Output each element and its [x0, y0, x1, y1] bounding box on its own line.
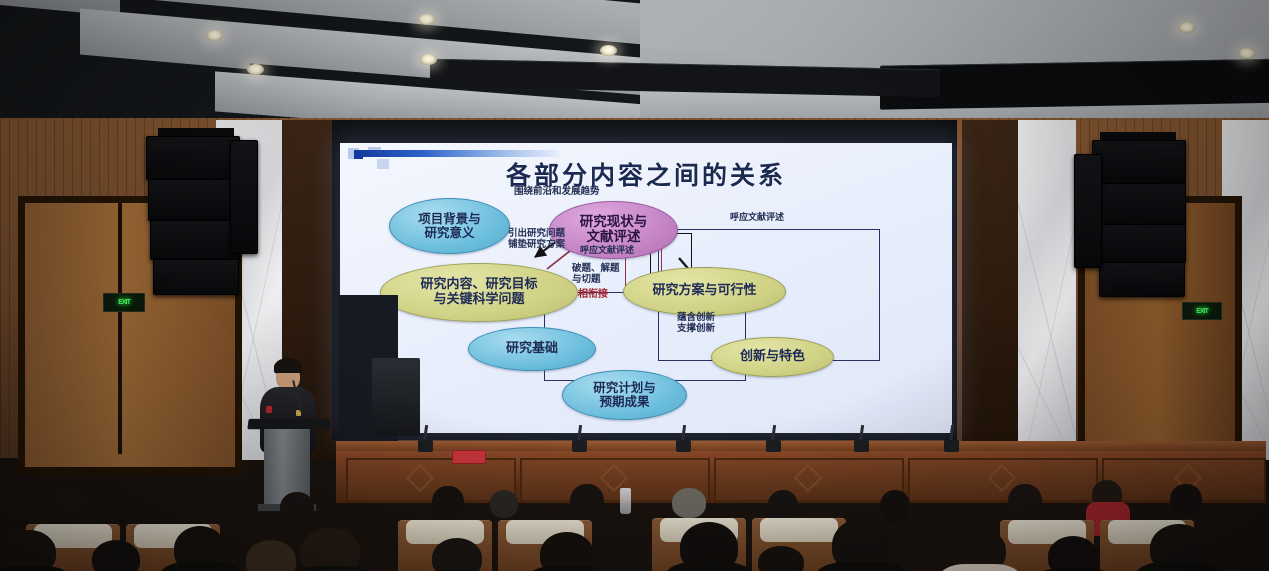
node-innovation: 创新与特色 [711, 337, 834, 377]
downlight [418, 14, 435, 25]
slide: 各部分内容之间的关系 [340, 143, 952, 433]
marble-column-right [1018, 120, 1076, 460]
water-bottle [620, 488, 631, 514]
downlight [1238, 48, 1255, 59]
projection-screen: 各部分内容之间的关系 [340, 143, 952, 433]
annotation-leadin: 引出研究问题 铺垫研究方案 [508, 229, 565, 251]
node-schedule: 研究计划与 预期成果 [562, 370, 687, 420]
downlight [420, 54, 437, 65]
annotation-echo-top: 呼应文献评述 [730, 213, 784, 223]
node-background: 项目背景与 研究意义 [389, 198, 510, 254]
downlight [206, 30, 223, 41]
annotation-innov-note: 蕴含创新 支撑创新 [677, 313, 715, 335]
exit-sign-left-text: EXIT [118, 299, 130, 306]
downlight [600, 45, 617, 56]
equipment-case [372, 358, 420, 436]
node-content: 研究内容、研究目标 与关键科学问题 [380, 263, 578, 322]
exit-sign-right: EXIT [1182, 302, 1222, 320]
downlight [247, 64, 264, 75]
annotation-echo-mid: 呼应文献评述 [580, 246, 634, 256]
exit-sign-right-text: EXIT [1196, 308, 1208, 315]
audience-area [0, 440, 1269, 571]
lecture-hall-scene: EXIT EXIT 各部分内容之间的关系 [0, 0, 1269, 571]
slide-diagram: 项目背景与 研究意义 研究现状与 文献评述 研究内容、研究目标 与关键科学问题 … [340, 185, 952, 433]
node-basis: 研究基础 [468, 327, 596, 371]
downlight [1178, 22, 1195, 33]
node-plan: 研究方案与可行性 [623, 267, 786, 316]
annotation-solve: 破题、解题 与切题 [572, 264, 620, 286]
annotation-trend: 围绕前沿和发展趋势 [514, 187, 600, 198]
annotation-connect: 相衔接 [578, 289, 608, 301]
exit-sign-left: EXIT [103, 293, 145, 312]
